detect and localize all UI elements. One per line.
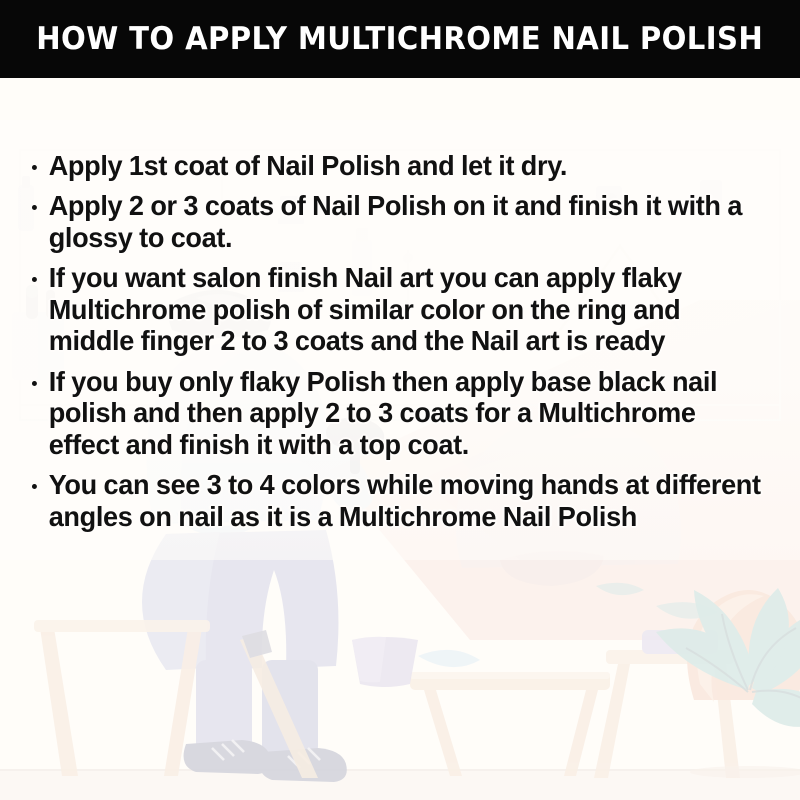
list-item: Apply 1st coat of Nail Polish and let it… (30, 150, 771, 181)
instruction-list: Apply 1st coat of Nail Polish and let it… (0, 150, 800, 532)
poster-canvas: HOW TO APPLY MULTICHROME NAIL POLISH App… (0, 0, 800, 800)
list-item: If you want salon finish Nail art you ca… (30, 262, 771, 356)
title-bar: HOW TO APPLY MULTICHROME NAIL POLISH (0, 0, 800, 78)
list-item: Apply 2 or 3 coats of Nail Polish on it … (30, 190, 771, 253)
instructions-section: Apply 1st coat of Nail Polish and let it… (0, 150, 800, 541)
list-item: If you buy only flaky Polish then apply … (30, 366, 771, 460)
list-item: You can see 3 to 4 colors while moving h… (30, 469, 771, 532)
page-title: HOW TO APPLY MULTICHROME NAIL POLISH (37, 21, 764, 57)
